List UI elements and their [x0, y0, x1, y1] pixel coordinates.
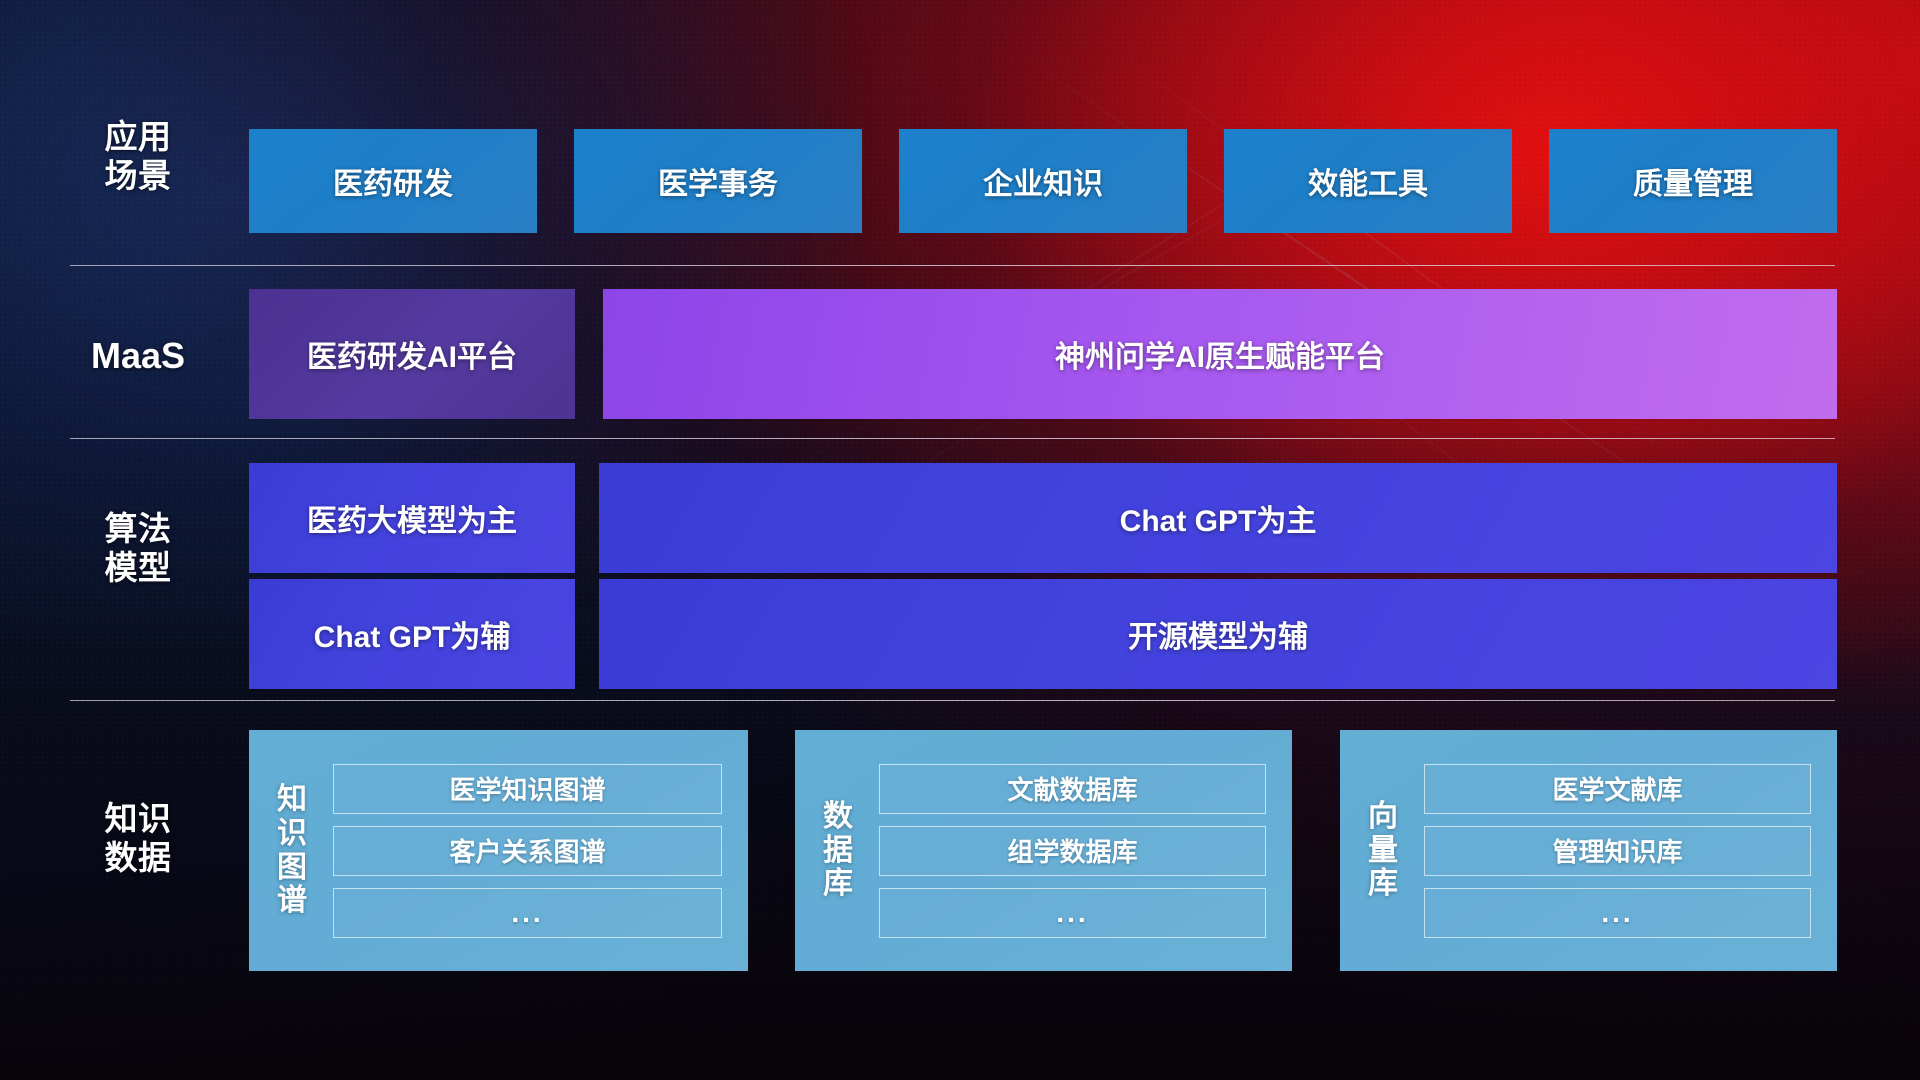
row-divider-3 — [70, 700, 1835, 701]
knowledge-group-database[interactable]: 数据库 文献数据库 组学数据库 ... — [795, 730, 1292, 971]
maas-box-medicine-rd-ai-platform[interactable]: 医药研发AI平台 — [249, 289, 575, 419]
row-divider-2 — [70, 438, 1835, 439]
app-box-efficiency-tools[interactable]: 效能工具 — [1224, 129, 1512, 233]
diagram-canvas: 应用 场景 医药研发 医学事务 企业知识 效能工具 质量管理 MaaS 医药研发… — [0, 0, 1920, 1080]
knowledge-item-omics-database[interactable]: 组学数据库 — [879, 826, 1266, 876]
row-label-line-1: 算法 — [78, 510, 198, 549]
row-label-line-2: 模型 — [78, 549, 198, 588]
app-box-quality-management[interactable]: 质量管理 — [1549, 129, 1837, 233]
algo-box-medicine-large-model-primary[interactable]: 医药大模型为主 — [249, 463, 575, 573]
knowledge-item-more[interactable]: ... — [1424, 888, 1811, 938]
app-box-enterprise-knowledge[interactable]: 企业知识 — [899, 129, 1187, 233]
row-label-line-1: 知识 — [78, 800, 198, 839]
row-divider-1 — [70, 265, 1835, 266]
algo-box-chatgpt-primary[interactable]: Chat GPT为主 — [599, 463, 1837, 573]
knowledge-group-vector-library[interactable]: 向量库 医学文献库 管理知识库 ... — [1340, 730, 1837, 971]
row-label-line-1: 应用 — [78, 118, 198, 157]
knowledge-group-title: 向量库 — [1356, 800, 1410, 901]
knowledge-item-customer-relation-graph[interactable]: 客户关系图谱 — [333, 826, 722, 876]
app-box-medical-affairs[interactable]: 医学事务 — [574, 129, 862, 233]
knowledge-item-medical-literature-library[interactable]: 医学文献库 — [1424, 764, 1811, 814]
row-label-knowledge-data: 知识 数据 — [78, 800, 198, 878]
knowledge-group-title: 数据库 — [811, 800, 865, 901]
knowledge-item-literature-database[interactable]: 文献数据库 — [879, 764, 1266, 814]
algo-box-chatgpt-auxiliary[interactable]: Chat GPT为辅 — [249, 579, 575, 689]
knowledge-group-items: 医学文献库 管理知识库 ... — [1410, 764, 1825, 938]
knowledge-item-medical-knowledge-graph[interactable]: 医学知识图谱 — [333, 764, 722, 814]
algo-box-open-source-auxiliary[interactable]: 开源模型为辅 — [599, 579, 1837, 689]
knowledge-group-items: 医学知识图谱 客户关系图谱 ... — [319, 764, 736, 938]
knowledge-item-more[interactable]: ... — [879, 888, 1266, 938]
knowledge-item-more[interactable]: ... — [333, 888, 722, 938]
row-label-line-2: 数据 — [78, 839, 198, 878]
row-label-algorithm-models: 算法 模型 — [78, 510, 198, 588]
knowledge-group-title: 知识图谱 — [265, 783, 319, 917]
row-label-application-scenarios: 应用 场景 — [78, 118, 198, 196]
row-label-maas: MaaS — [78, 335, 198, 377]
knowledge-group-knowledge-graph[interactable]: 知识图谱 医学知识图谱 客户关系图谱 ... — [249, 730, 748, 971]
app-box-medicine-rd[interactable]: 医药研发 — [249, 129, 537, 233]
knowledge-item-management-knowledge-base[interactable]: 管理知识库 — [1424, 826, 1811, 876]
row-label-line-2: 场景 — [78, 157, 198, 196]
knowledge-group-items: 文献数据库 组学数据库 ... — [865, 764, 1280, 938]
maas-box-shenzhou-wenxue-platform[interactable]: 神州问学AI原生赋能平台 — [603, 289, 1837, 419]
